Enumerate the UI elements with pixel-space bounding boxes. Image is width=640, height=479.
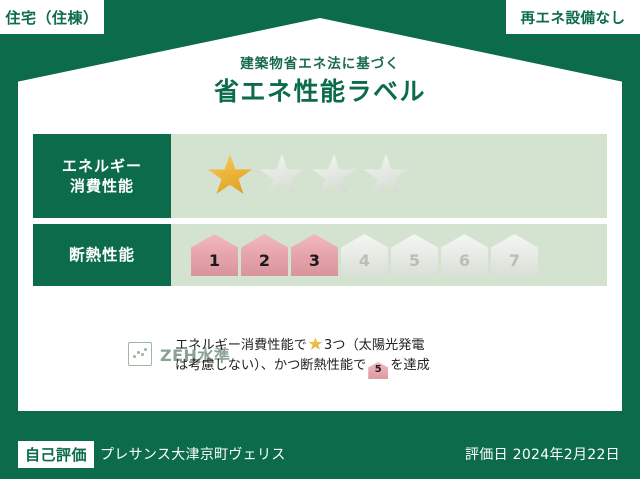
insulation-level-6: 6 (441, 234, 488, 276)
label-subtitle: 建築物省エネ法に基づく (0, 58, 640, 72)
insulation-level-3: 3 (291, 234, 338, 276)
insulation-level-4: 4 (341, 234, 388, 276)
insulation-level-2: 2 (241, 234, 288, 276)
star-icon-4 (363, 154, 409, 198)
building-type-tag: 住宅（住棟） (0, 0, 104, 34)
zeh-note-line-1-prefix: エネルギー消費性能で (175, 338, 307, 353)
zeh-note-line-1: エネルギー消費性能で3つ（太陽光発電 (175, 336, 607, 356)
zeh-note-line-2-prefix: は考慮しない）、かつ断熱性能で (175, 358, 366, 373)
energy-consumption-label-line2: 消費性能 (70, 176, 134, 196)
self-evaluation-badge: 自己評価 (18, 441, 94, 468)
insulation-performance-row: 断熱性能 1 2 3 4 5 6 7 (33, 224, 607, 286)
insulation-level-scale: 1 2 3 4 5 6 7 (171, 224, 607, 286)
rating-rows: エネルギー 消費性能 断熱性能 1 2 3 4 5 6 7 (33, 134, 607, 286)
evaluation-date: 評価日 2024年2月22日 (465, 444, 620, 464)
energy-consumption-label-line1: エネルギー (62, 156, 142, 176)
label-title-block: 建築物省エネ法に基づく 省エネ性能ラベル (0, 58, 640, 104)
building-type-tag-label: 住宅（住棟） (5, 7, 98, 28)
label-footer: 自己評価 プレサンス大津京町ヴェリス 評価日 2024年2月22日 (0, 429, 640, 479)
zeh-note-line-2: は考慮しない）、かつ断熱性能で5を達成 (175, 356, 607, 379)
zeh-standard-block: ZEH水準 (33, 336, 161, 366)
building-name: プレサンス大津京町ヴェリス (100, 444, 286, 464)
insulation-level-5: 5 (391, 234, 438, 276)
zeh-note-line-1-suffix: 3つ（太陽光発電 (324, 338, 425, 353)
zeh-note: ZEH水準 エネルギー消費性能で3つ（太陽光発電 は考慮しない）、かつ断熱性能で… (33, 336, 607, 379)
page-title: 省エネ性能ラベル (0, 79, 640, 104)
energy-star-rating (171, 134, 607, 218)
energy-consumption-label: エネルギー 消費性能 (33, 134, 171, 218)
insulation-performance-label: 断熱性能 (33, 224, 171, 286)
star-icon-2 (259, 154, 305, 198)
inline-star-icon (308, 337, 323, 351)
zeh-note-line-2-suffix: を達成 (390, 358, 430, 373)
renewable-equipment-tag-label: 再エネ設備なし (521, 7, 626, 28)
energy-performance-label: 住宅（住棟） 再エネ設備なし 建築物省エネ法に基づく 省エネ性能ラベル エネルギ… (0, 0, 640, 479)
star-icon-3 (311, 154, 357, 198)
insulation-level-1: 1 (191, 234, 238, 276)
energy-consumption-row: エネルギー 消費性能 (33, 134, 607, 218)
inline-house-badge-icon: 5 (368, 362, 388, 379)
zeh-chart-icon (128, 342, 152, 366)
insulation-performance-label-text: 断熱性能 (69, 245, 135, 266)
star-icon-1 (207, 154, 253, 198)
zeh-note-text: エネルギー消費性能で3つ（太陽光発電 は考慮しない）、かつ断熱性能で5を達成 (161, 336, 607, 379)
insulation-level-7: 7 (491, 234, 538, 276)
renewable-equipment-tag: 再エネ設備なし (506, 0, 640, 34)
